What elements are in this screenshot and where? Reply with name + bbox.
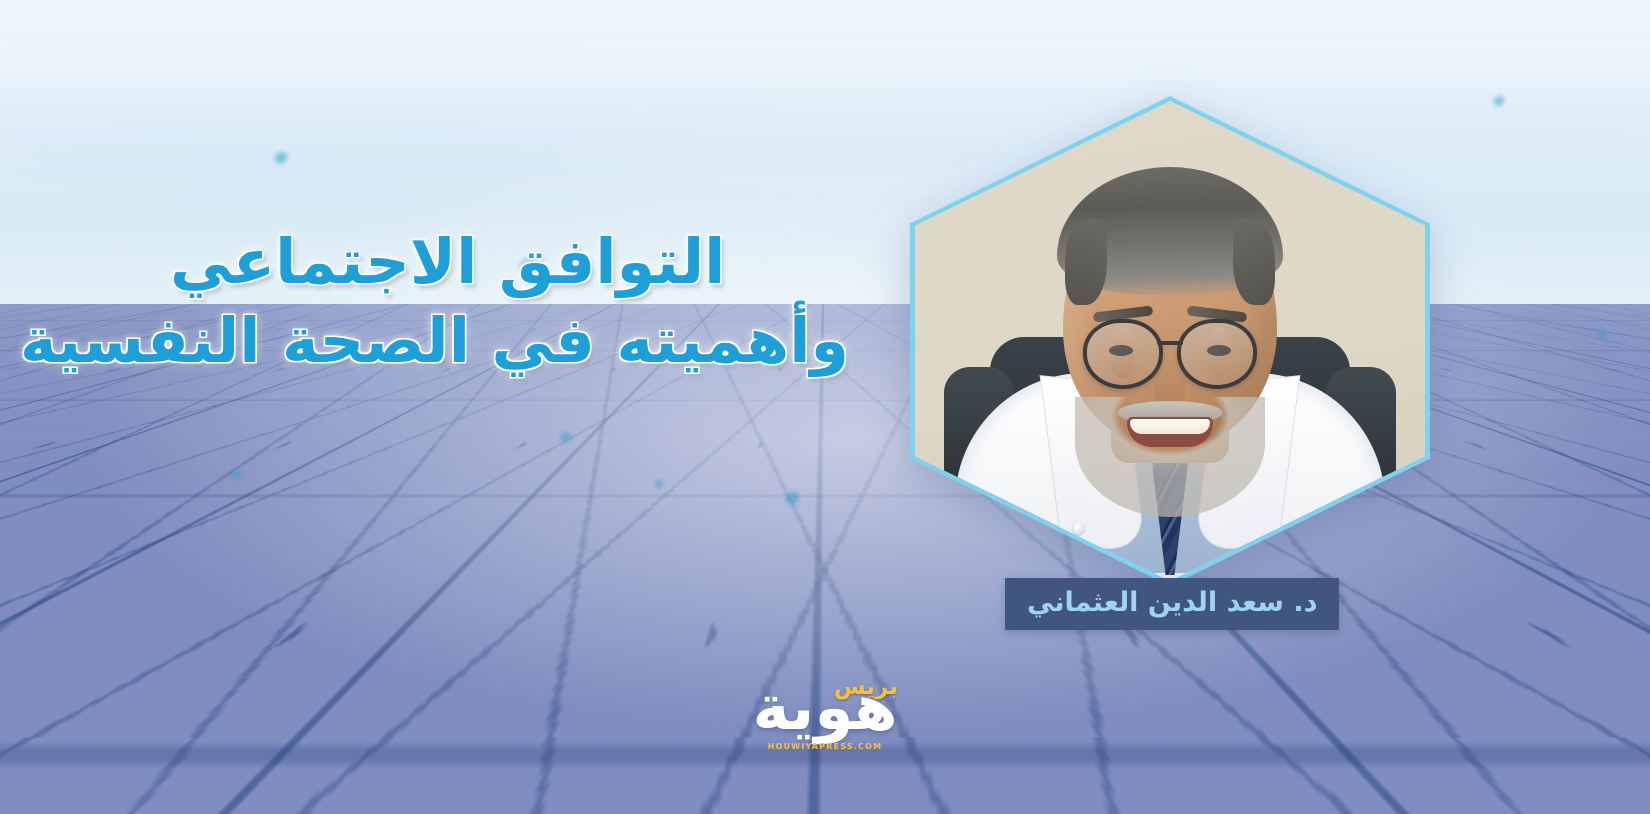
logo-url-text: HOUWIYAPRESS.COM bbox=[710, 742, 940, 751]
accent-dot bbox=[1494, 96, 1505, 107]
logo-main-text: هوية bbox=[710, 676, 940, 739]
face bbox=[1063, 179, 1277, 447]
banner-stage: التوافق الاجتماعي وأهميته في الصحة النفس… bbox=[0, 0, 1650, 814]
accent-dot bbox=[655, 480, 664, 489]
logo-sub-text: بريس bbox=[834, 676, 898, 699]
banner-title: التوافق الاجتماعي وأهميته في الصحة النفس… bbox=[20, 222, 920, 381]
site-logo[interactable]: هوية بريس HOUWIYAPRESS.COM bbox=[710, 668, 940, 768]
accent-dot bbox=[232, 470, 242, 480]
accent-dot bbox=[560, 432, 571, 443]
speaker-name-badge: د. سعد الدين العثماني bbox=[1005, 578, 1339, 630]
smiling-mouth bbox=[1127, 417, 1213, 447]
speaker-portrait-hexagon bbox=[910, 96, 1430, 586]
title-line-1: التوافق الاجتماعي bbox=[20, 222, 920, 301]
speaker-photo bbox=[915, 101, 1425, 581]
accent-dot bbox=[275, 152, 288, 165]
title-line-2: وأهميته في الصحة النفسية bbox=[20, 301, 920, 380]
accent-dot bbox=[786, 492, 800, 506]
accent-dot bbox=[1598, 330, 1607, 339]
